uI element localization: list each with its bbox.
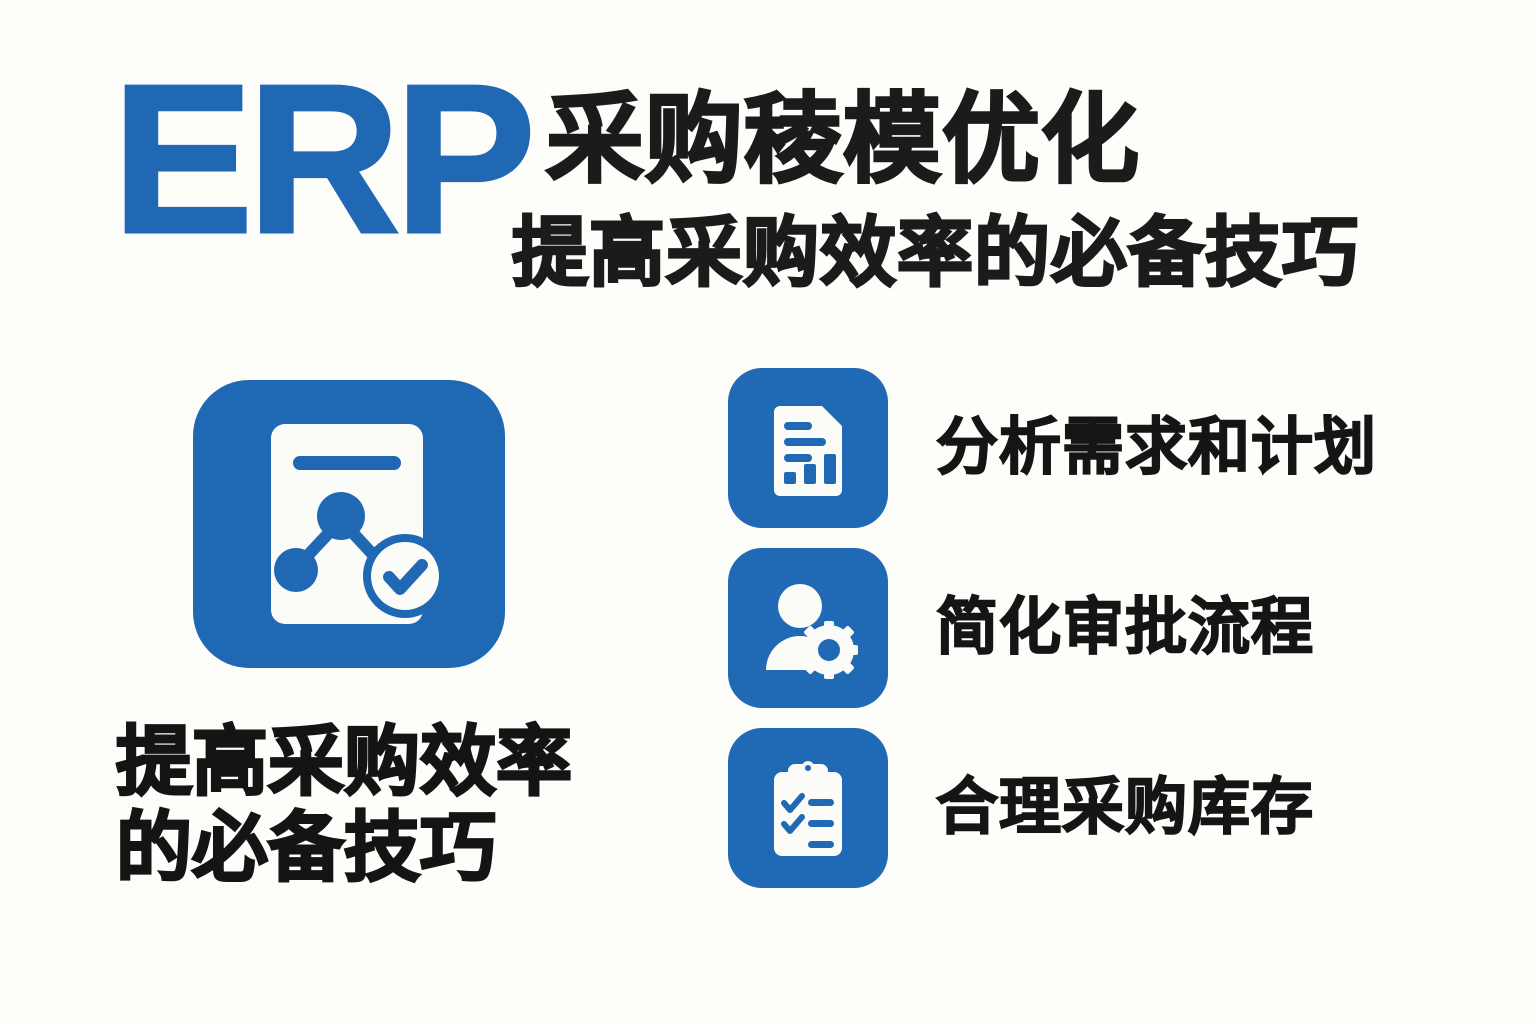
feature-label: 合理采购库存 — [936, 777, 1314, 839]
feature-row[interactable]: 简化审批流程 — [728, 548, 1488, 708]
feature-icon-tile — [728, 368, 888, 528]
feature-row[interactable]: 分析需求和计划 — [728, 368, 1488, 528]
feature-row[interactable]: 合理采购库存 — [728, 728, 1488, 888]
left-caption-line-2: 的必备技巧 — [116, 806, 628, 892]
clipboard-checklist-icon — [756, 756, 860, 860]
document-analytics-check-icon — [193, 380, 505, 668]
left-feature-caption: 提高采购效率 的必备技巧 — [116, 720, 628, 892]
user-gear-icon — [756, 576, 860, 680]
feature-icon-tile — [728, 548, 888, 708]
page-subtitle: 提高采购效率的必备技巧 — [512, 212, 1359, 296]
hero-icon-tile — [193, 380, 505, 668]
poster-header: ERP 采购稜模优化 提高采购效率的必备技巧 — [0, 0, 1536, 330]
left-caption-line-1: 提高采购效率 — [116, 720, 628, 806]
page-title: 采购稜模优化 — [546, 88, 1140, 192]
document-chart-icon — [756, 396, 860, 500]
brand-wordmark: ERP — [112, 74, 530, 244]
feature-icon-tile — [728, 728, 888, 888]
left-feature-block: 提高采购效率 的必备技巧 — [108, 380, 628, 892]
feature-list: 分析需求和计划 — [728, 368, 1488, 908]
feature-label: 简化审批流程 — [936, 597, 1314, 659]
infographic-poster: ERP 采购稜模优化 提高采购效率的必备技巧 — [0, 0, 1536, 1024]
feature-label: 分析需求和计划 — [936, 417, 1377, 479]
